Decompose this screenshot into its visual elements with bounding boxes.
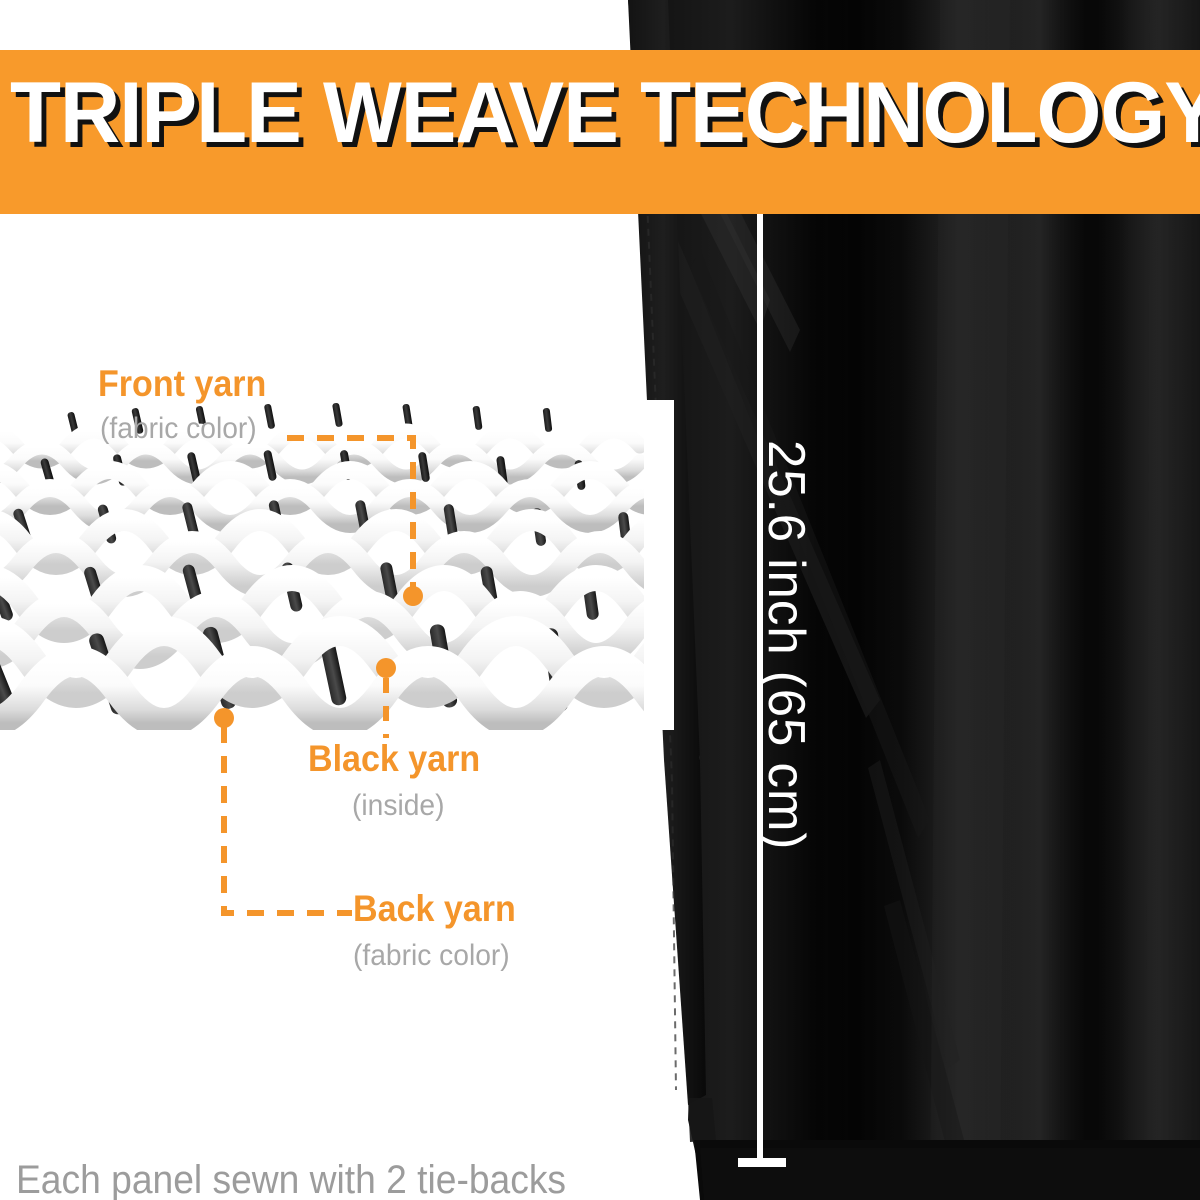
callout-back-yarn-subtitle: (fabric color) <box>353 941 519 971</box>
header-banner: TRIPLE WEAVE TECHNOLOGY <box>0 50 1200 214</box>
callout-back-yarn-title: Back yarn <box>353 890 516 927</box>
bottom-note-line-1: Each panel sewn with 2 tie-backs <box>16 1156 566 1200</box>
callout-black-yarn-subtitle: (inside) <box>352 791 487 821</box>
infographic-root: TRIPLE WEAVE TECHNOLOGY Front yarn (fabr… <box>0 0 1200 1200</box>
dimension-bottom-cap <box>738 1158 786 1167</box>
callout-front-yarn-subtitle: (fabric color) <box>100 414 270 444</box>
dimension-label: 25.6 inch (65 cm) <box>760 440 812 850</box>
callout-front-yarn: Front yarn (fabric color) <box>98 365 281 444</box>
callout-back-yarn: Back yarn (fabric color) <box>353 890 530 971</box>
page-title: TRIPLE WEAVE TECHNOLOGY <box>10 70 1200 156</box>
bottom-note: Each panel sewn with 2 tie-backs A set o… <box>16 1058 566 1200</box>
callout-black-yarn-title: Black yarn <box>308 740 480 777</box>
callout-black-yarn: Black yarn (inside) <box>308 740 495 821</box>
callout-front-yarn-title: Front yarn <box>98 365 266 402</box>
triple-weave-illustration <box>0 400 674 730</box>
